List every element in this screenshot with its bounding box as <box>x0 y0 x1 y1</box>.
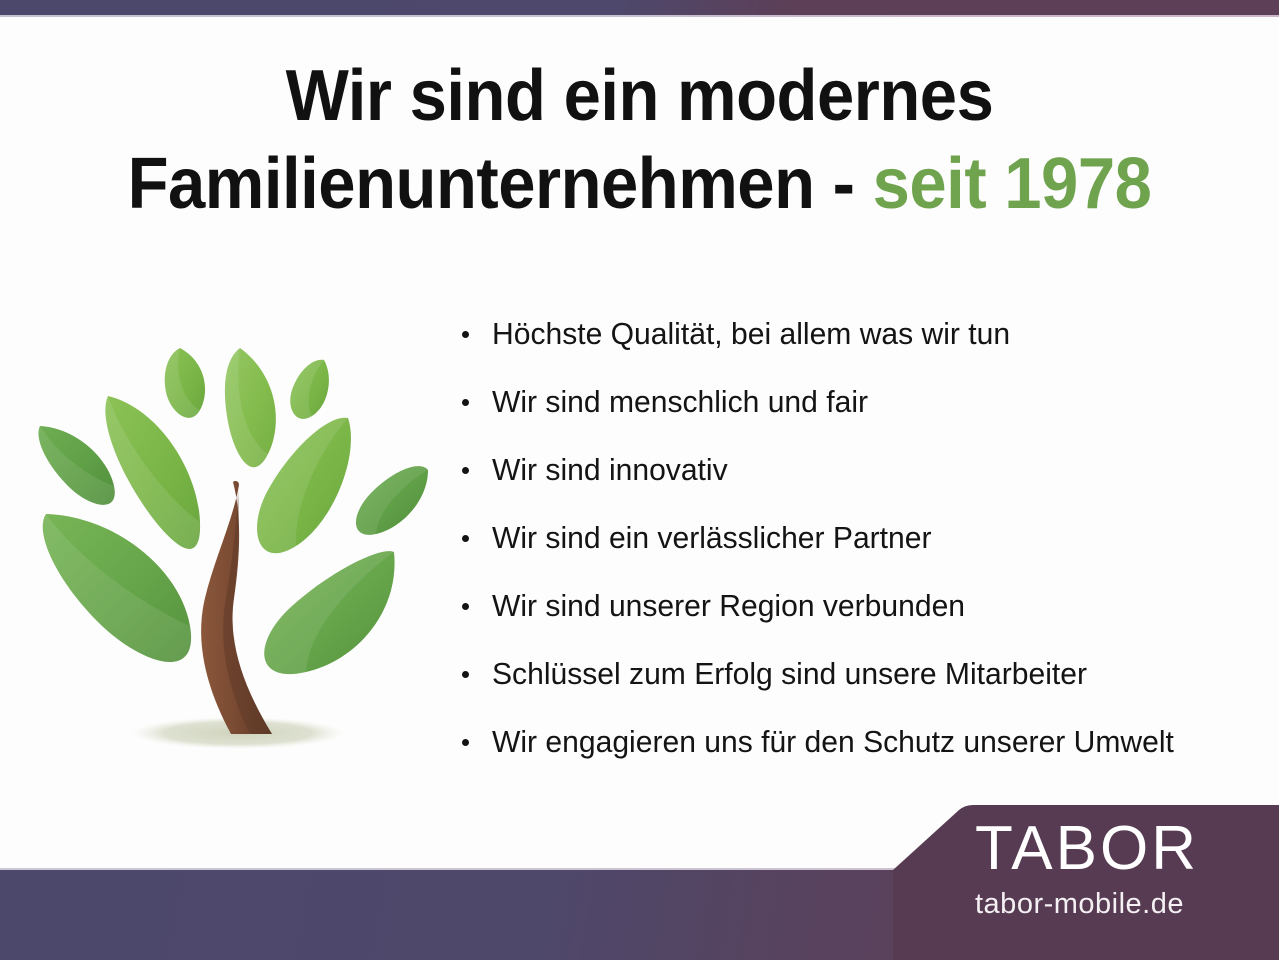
list-item-label: Wir sind unserer Region verbunden <box>492 572 965 640</box>
leaf-top-left-small <box>165 348 205 418</box>
list-item: Schlüssel zum Erfolg sind unsere Mitarbe… <box>455 640 1265 708</box>
bullet-dot-icon <box>462 603 469 610</box>
leaf-top-right-small <box>290 360 329 419</box>
bullet-dot-icon <box>462 467 469 474</box>
bullet-dot-icon <box>462 535 469 542</box>
top-accent-bar-edge <box>0 15 1279 17</box>
logo-domain: tabor-mobile.de <box>975 886 1265 922</box>
list-item: Wir engagieren uns für den Schutz unsere… <box>455 708 1265 776</box>
top-accent-bar <box>0 0 1279 15</box>
headline-accent-year: seit 1978 <box>873 144 1152 224</box>
headline-line-2-main: Familienunternehmen - <box>128 144 873 224</box>
leaf-top-center <box>225 348 276 467</box>
slide-headline: Wir sind ein modernes Familienunternehme… <box>45 52 1234 228</box>
bullet-dot-icon <box>462 331 469 338</box>
leaf-upper-left <box>105 396 200 549</box>
list-item-label: Wir sind ein verlässlicher Partner <box>492 504 932 572</box>
headline-line-1: Wir sind ein modernes <box>45 52 1234 140</box>
list-item-label: Wir sind innovativ <box>492 436 728 504</box>
list-item: Wir sind unserer Region verbunden <box>455 572 1265 640</box>
list-item-label: Wir engagieren uns für den Schutz unsere… <box>492 708 1174 776</box>
slide-canvas: Wir sind ein modernes Familienunternehme… <box>0 0 1279 960</box>
logo-wordmark: TABOR <box>975 816 1265 882</box>
list-item-label: Höchste Qualität, bei allem was wir tun <box>492 300 1010 368</box>
leaf-far-right <box>356 466 428 535</box>
bullet-dot-icon <box>462 671 469 678</box>
list-item: Wir sind innovativ <box>455 436 1265 504</box>
headline-line-2: Familienunternehmen - seit 1978 <box>45 140 1234 228</box>
leaf-lower-right <box>264 551 394 674</box>
bullet-dot-icon <box>462 739 469 746</box>
tree-icon <box>28 330 440 762</box>
list-item: Höchste Qualität, bei allem was wir tun <box>455 300 1265 368</box>
list-item-label: Wir sind menschlich und fair <box>492 368 868 436</box>
list-item: Wir sind ein verlässlicher Partner <box>455 504 1265 572</box>
leaf-far-left <box>38 426 114 505</box>
bullet-dot-icon <box>462 399 469 406</box>
list-item-label: Schlüssel zum Erfolg sind unsere Mitarbe… <box>492 640 1087 708</box>
list-item: Wir sind menschlich und fair <box>455 368 1265 436</box>
logo-lockup: TABOR tabor-mobile.de <box>975 816 1265 922</box>
bullet-list: Höchste Qualität, bei allem was wir tun … <box>455 300 1265 776</box>
